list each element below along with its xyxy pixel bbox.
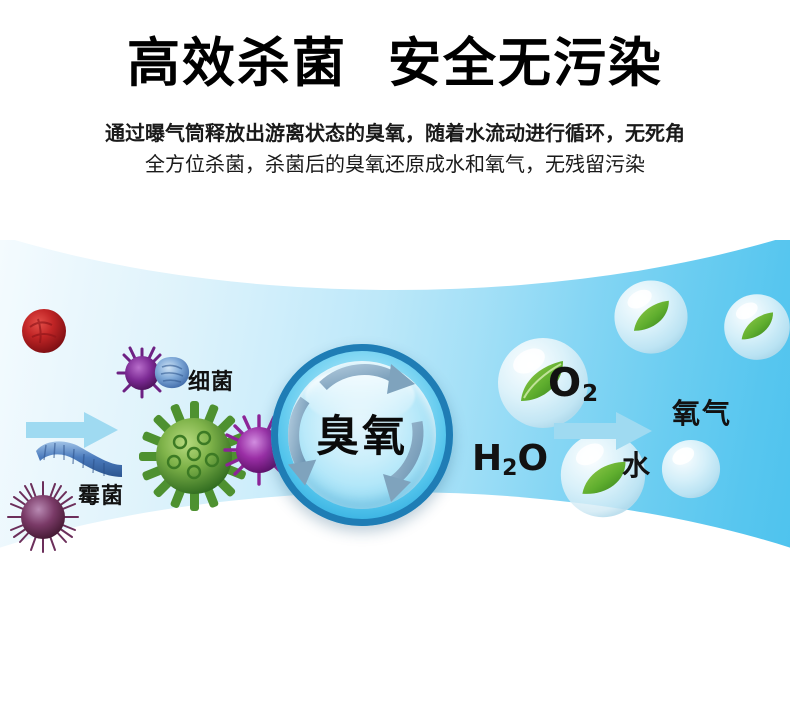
leaf-bubble-3 (722, 292, 790, 362)
ozone-label: 臭氧 (271, 402, 453, 464)
formula-h2o-o: O (517, 438, 548, 479)
blue-flower-bacteria (152, 355, 192, 391)
label-water: 水 (622, 444, 650, 484)
subtitle-line-2: 全方位杀菌，杀菌后的臭氧还原成水和氧气，无残留污染 (0, 149, 790, 180)
subtitle-line-1: 通过曝气筒释放出游离状态的臭氧，随着水流动进行循环，无死角 (0, 118, 790, 149)
formula-o2-symbol: O (548, 361, 581, 406)
ozone-sphere[interactable]: 臭氧 (271, 344, 453, 526)
formula-o2: O2 (548, 361, 597, 406)
formula-h2o: H2O (472, 438, 548, 479)
infographic-page: 高效杀菌 安全无污染 通过曝气筒释放出游离状态的臭氧，随着水流动进行循环，无死角… (0, 0, 790, 706)
purple-hairy-germ (6, 480, 80, 554)
page-subtitle: 通过曝气筒释放出游离状态的臭氧，随着水流动进行循环，无死角 全方位杀菌，杀菌后的… (0, 118, 790, 180)
label-oxygen-gas: 氧气 (672, 392, 732, 432)
inflow-arrow (24, 410, 120, 450)
process-diagram: 臭氧 (0, 240, 790, 570)
footer-whitespace (0, 570, 790, 706)
label-mold: 霉菌 (78, 478, 124, 510)
formula-h2o-subscript: 2 (502, 456, 517, 481)
red-round-germ (18, 305, 70, 357)
page-title: 高效杀菌 安全无污染 (0, 34, 790, 94)
leaf-bubble-2 (612, 278, 690, 356)
formula-h2o-h: H (472, 438, 502, 479)
plain-bubble-1 (660, 438, 722, 500)
label-bacteria: 细菌 (188, 364, 234, 396)
formula-o2-subscript: 2 (582, 381, 598, 407)
